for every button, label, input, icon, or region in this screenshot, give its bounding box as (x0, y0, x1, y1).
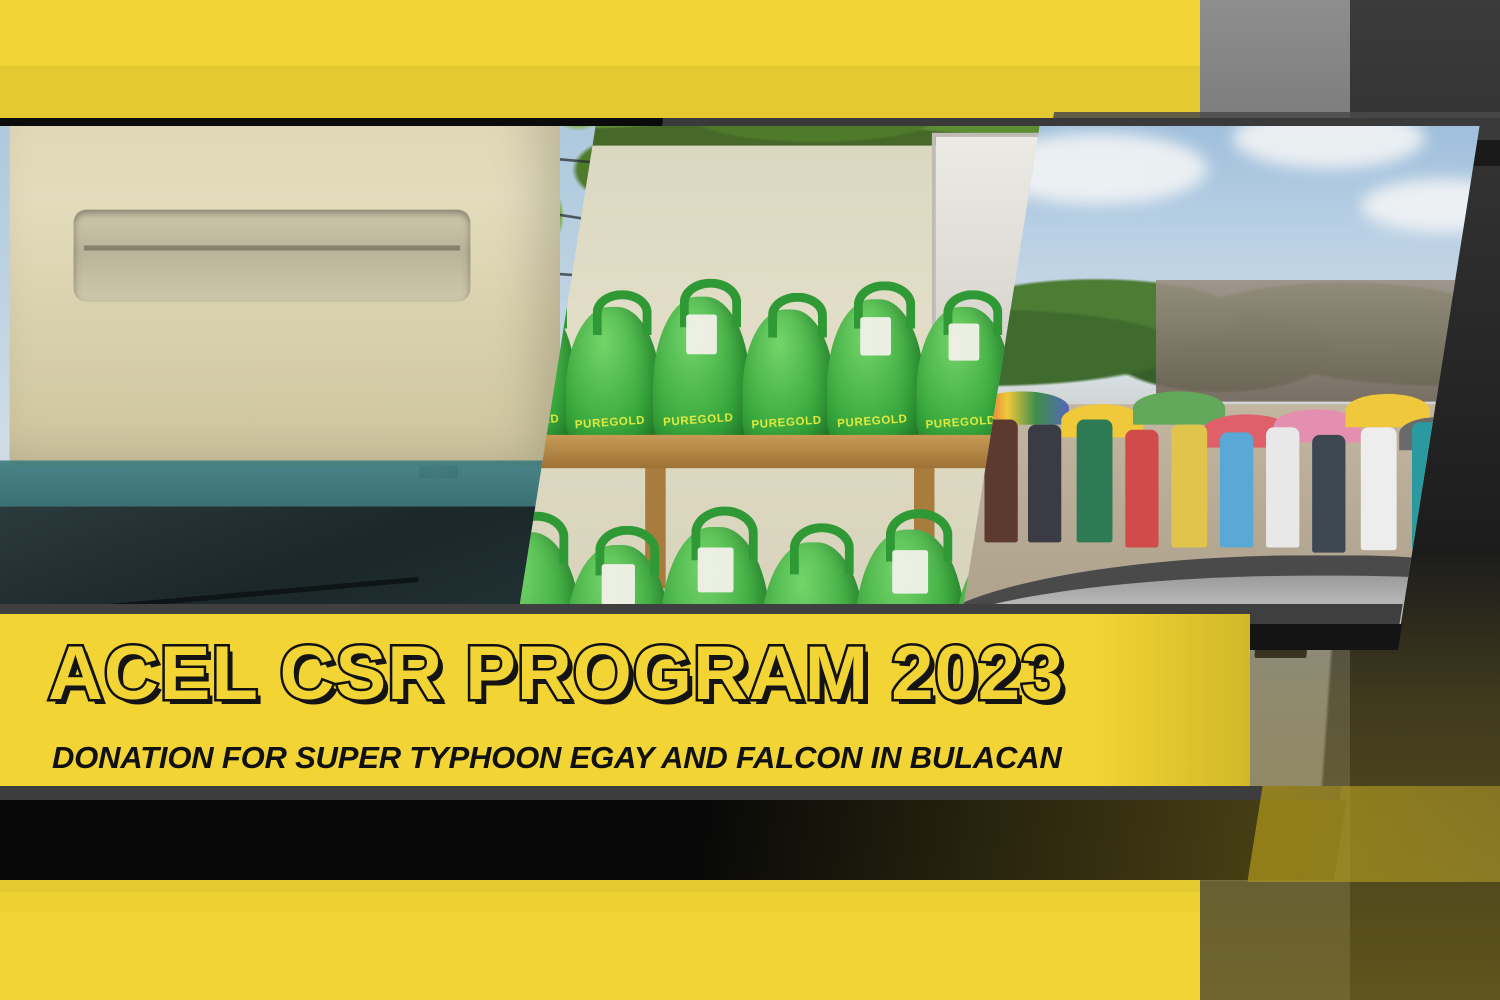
photo-truck: DONATION BY: RAYMAN BUILDERS, INC. HOTEL (0, 126, 610, 626)
photo-beneficiaries (960, 126, 1479, 626)
footer-bar-glow (694, 800, 1347, 880)
page-title: ACEL CSR PROGRAM 2023 (48, 636, 1064, 712)
photo-collage: DONATION BY: RAYMAN BUILDERS, INC. HOTEL (0, 126, 1440, 626)
footer-wedge (1247, 786, 1500, 882)
poster-canvas: DONATION BY: RAYMAN BUILDERS, INC. HOTEL (0, 0, 1500, 1000)
page-subtitle: DONATION FOR SUPER TYPHOON EGAY AND FALC… (52, 742, 1062, 773)
